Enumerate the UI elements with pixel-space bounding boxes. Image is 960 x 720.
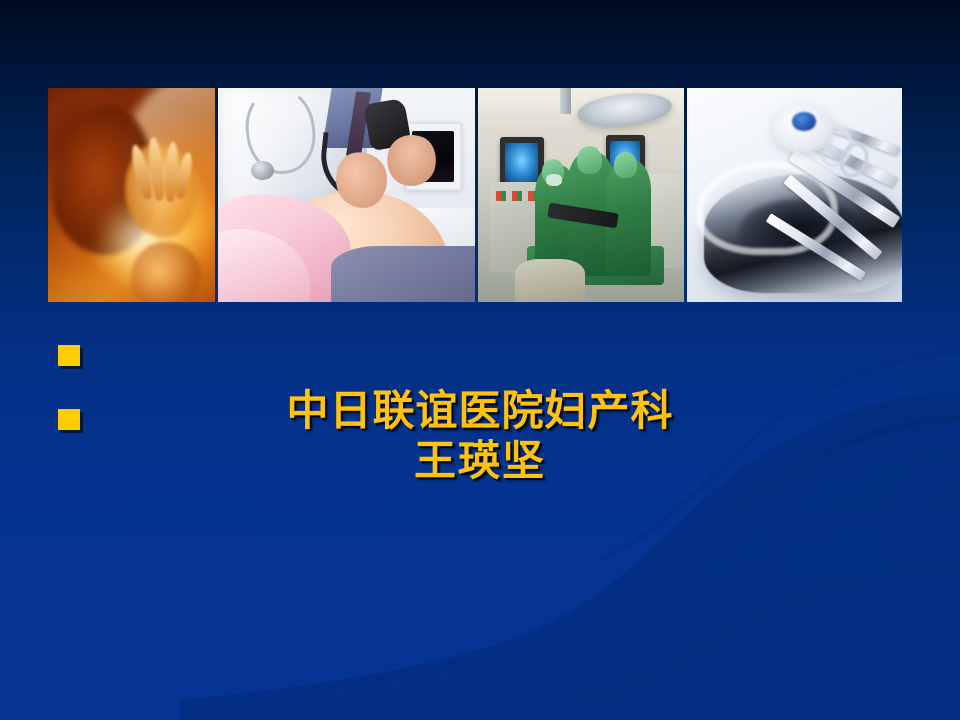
title-line-organization: 中日联谊医院妇产科 [0, 386, 960, 436]
photo-panel-surgical-instruments [687, 88, 902, 302]
square-bullet-icon [58, 345, 80, 366]
photo-panel-ultrasound-exam [218, 88, 475, 302]
bullet-item-1-label [80, 342, 918, 343]
bullet-item-1[interactable] [58, 342, 918, 366]
title-line-author: 王瑛坚 [0, 436, 960, 486]
medical-photo-banner [48, 88, 902, 302]
photo-panel-operating-theatre [478, 88, 685, 302]
photo-panel-fetus [48, 88, 215, 302]
title-slide: 中日联谊医院妇产科 王瑛坚 [0, 0, 960, 720]
slide-title: 中日联谊医院妇产科 王瑛坚 [0, 386, 960, 485]
